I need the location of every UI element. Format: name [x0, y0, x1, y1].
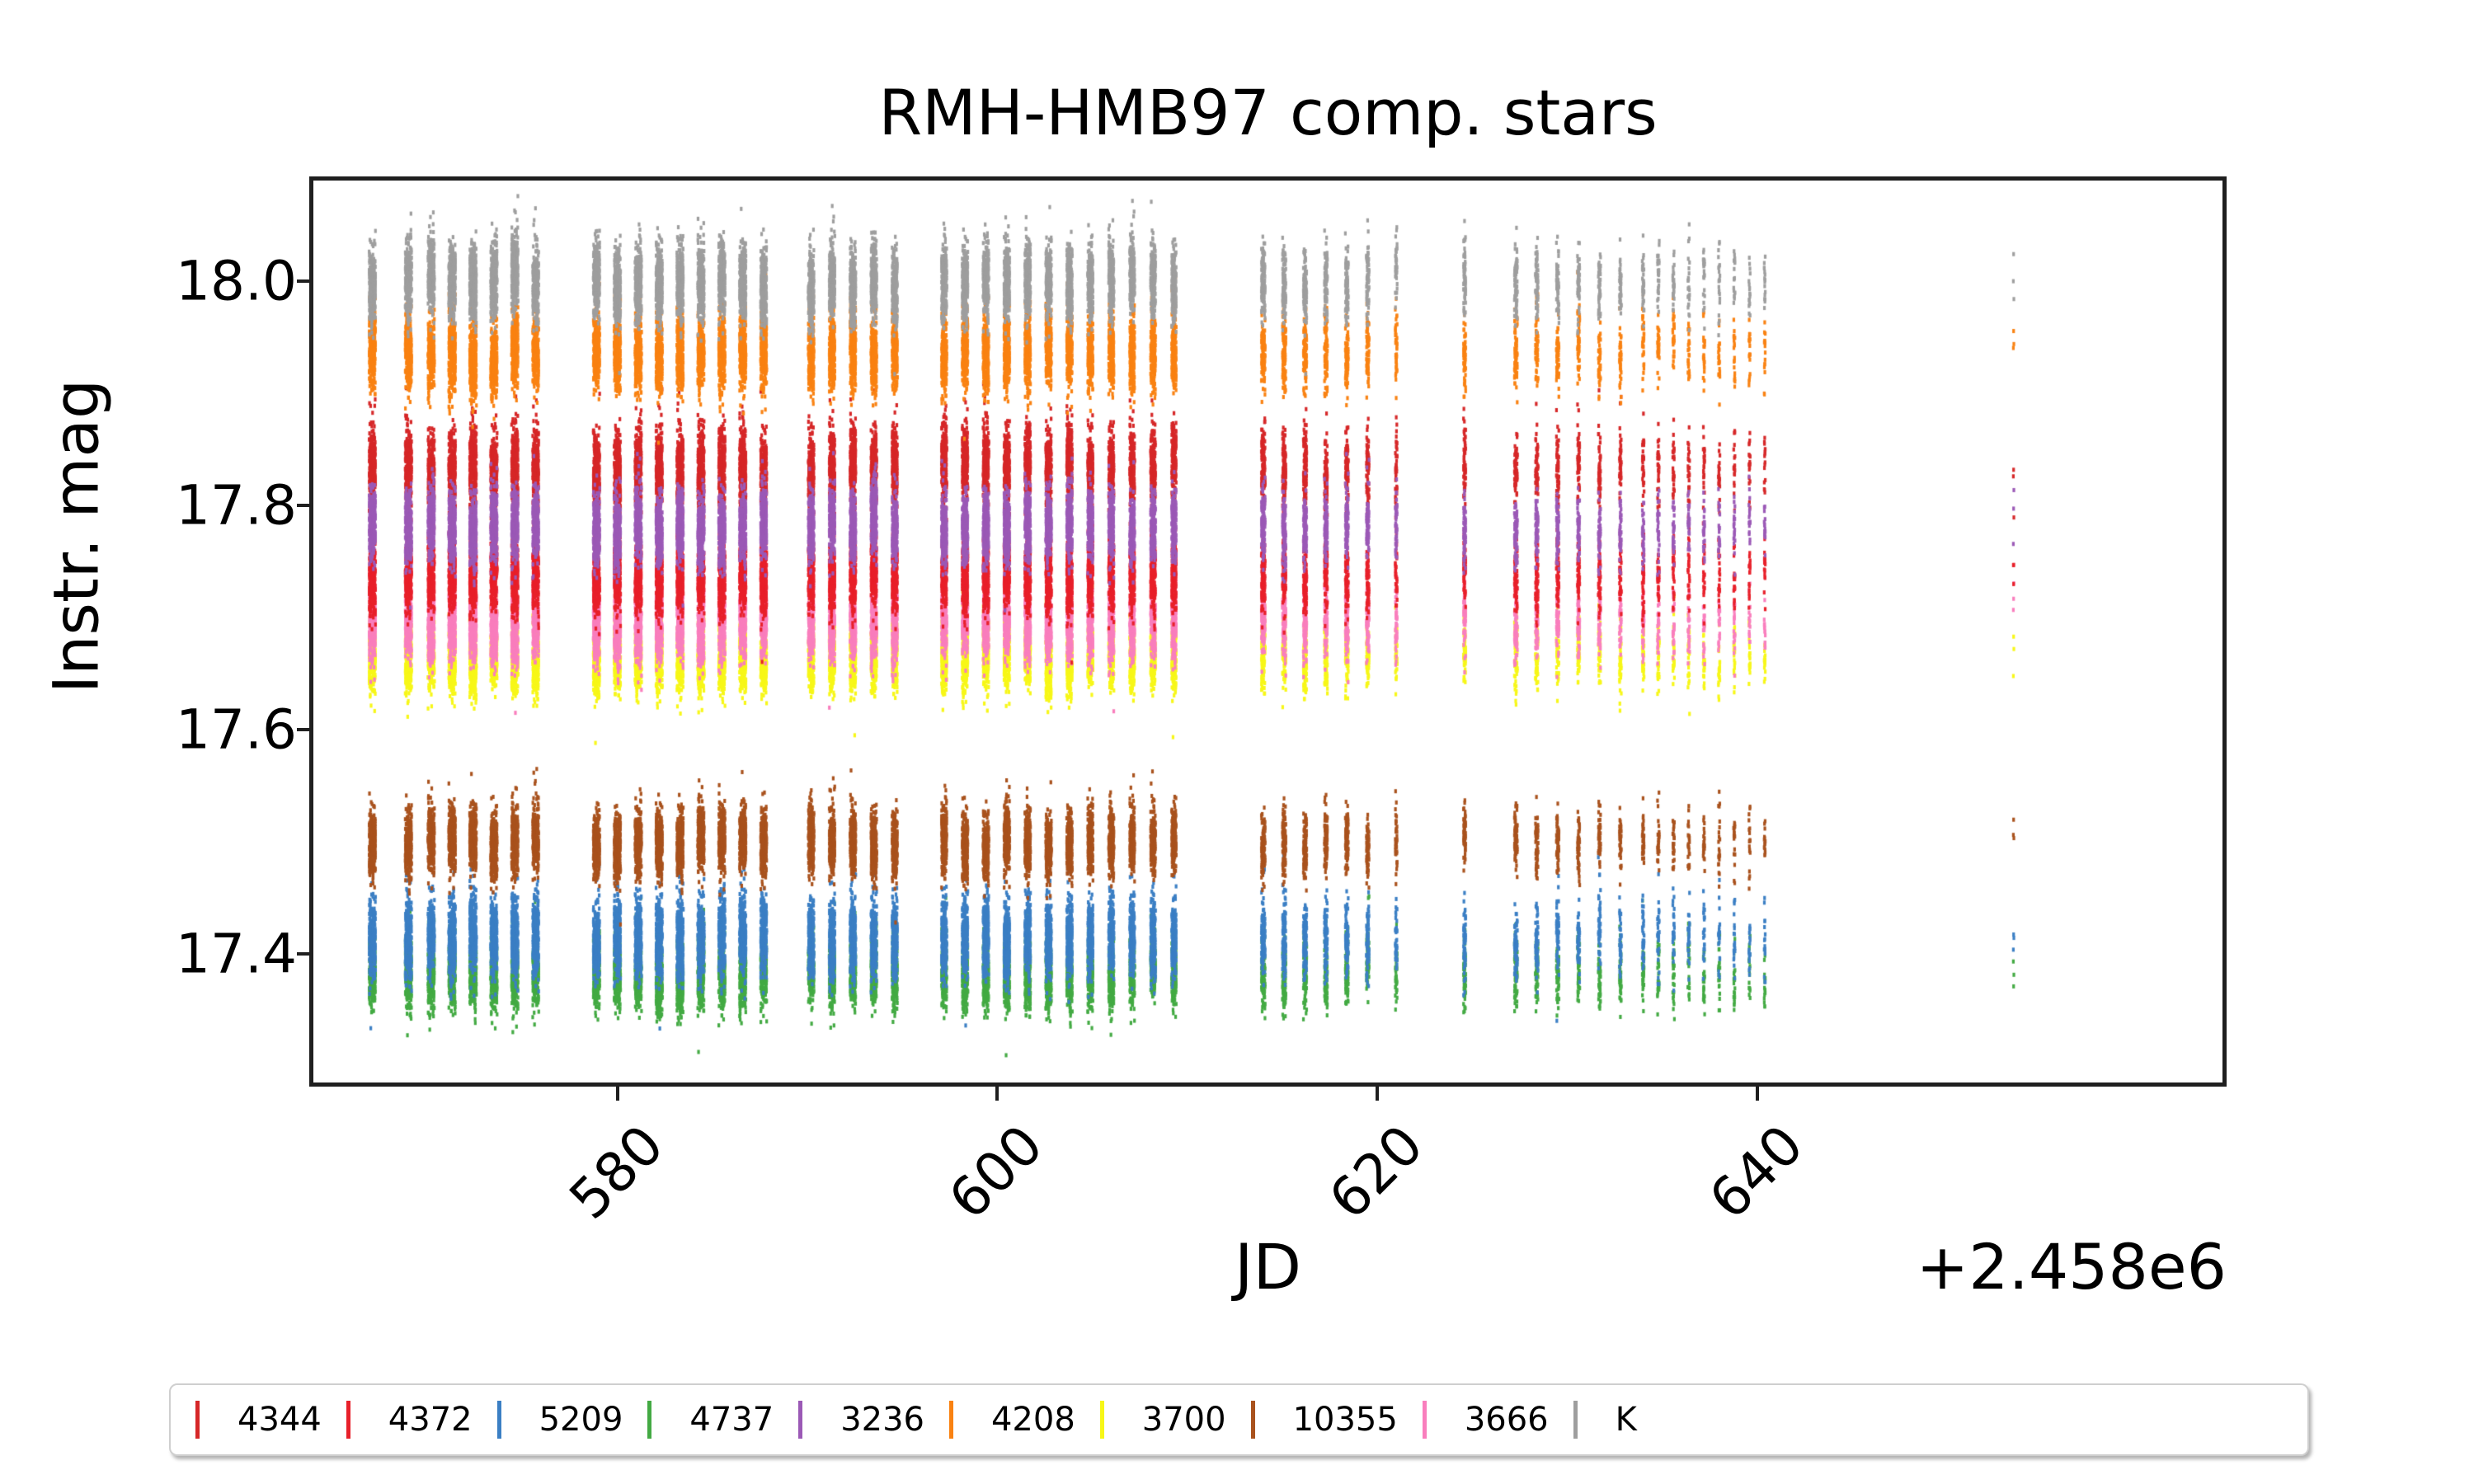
legend-item[interactable]: 3666: [1398, 1385, 1549, 1454]
legend-item-label: 5209: [539, 1401, 623, 1439]
legend-item[interactable]: 10355: [1226, 1385, 1398, 1454]
legend-item-label: 4208: [991, 1401, 1075, 1439]
legend-item[interactable]: 4737: [623, 1385, 774, 1454]
y-axis-tick-label: 17.4: [49, 922, 297, 985]
legend-item[interactable]: 5209: [473, 1385, 623, 1454]
legend-item-label: 3236: [840, 1401, 924, 1439]
legend-item[interactable]: K: [1549, 1385, 1637, 1454]
legend-marker-icon: [195, 1401, 200, 1439]
legend-item-label: 4737: [689, 1401, 774, 1439]
legend-marker-icon: [949, 1401, 953, 1439]
x-axis-tick-mark: [616, 1087, 619, 1101]
x-axis-offset-text: +2.458e6: [1917, 1230, 2227, 1303]
y-axis-tick-mark: [297, 728, 310, 731]
legend-marker-icon: [346, 1401, 350, 1439]
legend-marker-icon: [1423, 1401, 1427, 1439]
legend-item[interactable]: 4344: [171, 1385, 322, 1454]
legend[interactable]: 4344437252094737323642083700103553666K: [169, 1383, 2309, 1456]
y-axis-tick-mark: [297, 279, 310, 283]
legend-item-label: 10355: [1293, 1401, 1398, 1439]
scatter-plot-canvas[interactable]: [313, 181, 2222, 1082]
legend-item[interactable]: 3236: [774, 1385, 924, 1454]
legend-item[interactable]: 4372: [322, 1385, 473, 1454]
y-axis-tick-label: 17.8: [49, 474, 297, 538]
legend-item-label: 3666: [1465, 1401, 1549, 1439]
legend-item-label: K: [1616, 1401, 1637, 1439]
legend-marker-icon: [1251, 1401, 1255, 1439]
y-axis-tick-label: 17.6: [49, 697, 297, 761]
legend-item[interactable]: 4208: [924, 1385, 1075, 1454]
plot-area[interactable]: [309, 176, 2227, 1087]
y-axis-tick-mark: [297, 504, 310, 507]
y-axis-tick-mark: [297, 952, 310, 956]
x-axis-tick-mark: [1756, 1087, 1759, 1101]
legend-item-label: 4372: [388, 1401, 473, 1439]
legend-item[interactable]: 3700: [1075, 1385, 1226, 1454]
legend-marker-icon: [1573, 1401, 1578, 1439]
legend-item-label: 3700: [1142, 1401, 1226, 1439]
x-axis-tick-mark: [995, 1087, 999, 1101]
x-axis-tick-mark: [1376, 1087, 1379, 1101]
y-axis-tick-label: 18.0: [49, 250, 297, 313]
legend-marker-icon: [647, 1401, 651, 1439]
legend-marker-icon: [497, 1401, 501, 1439]
figure-canvas: RMH-HMB97 comp. stars Instr. mag 17.417.…: [0, 0, 2474, 1484]
page-title: RMH-HMB97 comp. stars: [309, 76, 2227, 149]
legend-item-label: 4344: [238, 1401, 322, 1439]
legend-marker-icon: [1100, 1401, 1104, 1439]
legend-marker-icon: [798, 1401, 802, 1439]
